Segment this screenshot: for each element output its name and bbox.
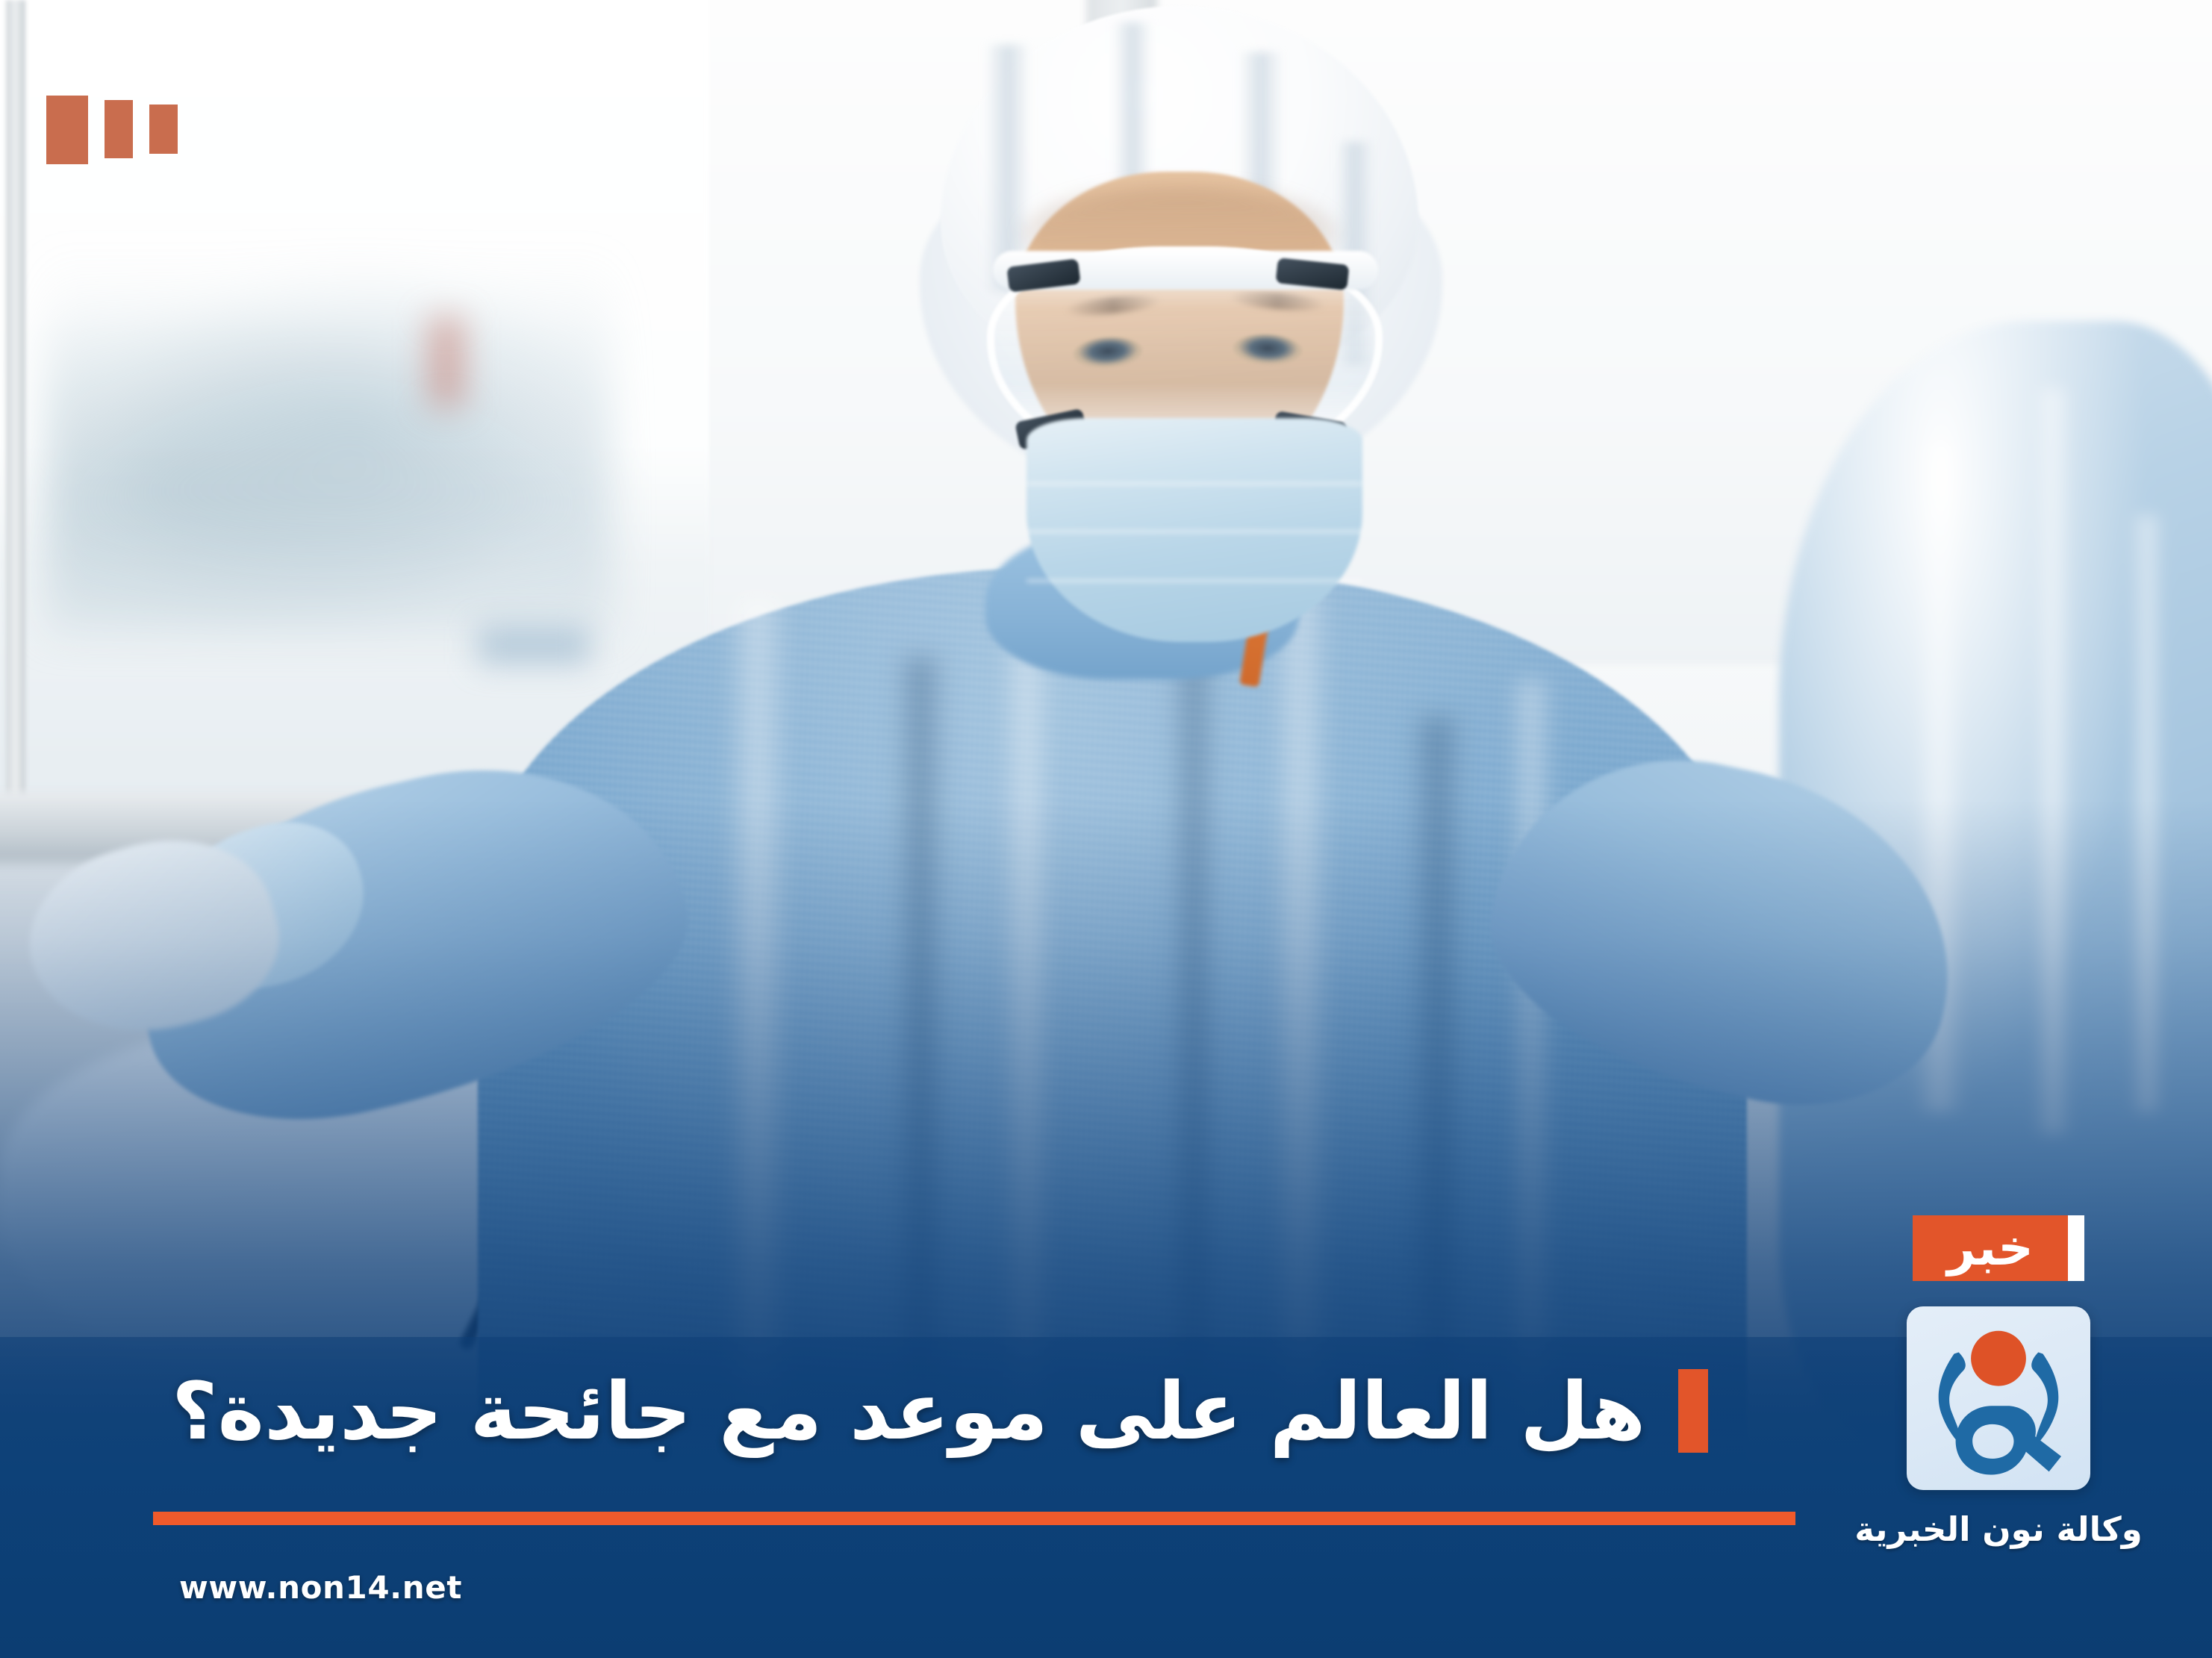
news-card: خبر وكالة نون الخبرية هل العالم على موعد… [0, 0, 2212, 1658]
brand-name: وكالة نون الخبرية [1854, 1509, 2142, 1549]
site-url[interactable]: www.non14.net [179, 1569, 462, 1606]
noon-agency-figure-icon [1907, 1306, 2090, 1490]
window-frame-vertical [6, 0, 25, 881]
category-badge-tick [2068, 1215, 2084, 1281]
brand-block: خبر وكالة نون الخبرية [1849, 1215, 2148, 1549]
divider-rule [153, 1512, 1795, 1525]
headline-row: هل العالم على موعد مع جائحة جديدة؟ [172, 1365, 1816, 1458]
headline-text: هل العالم على موعد مع جائحة جديدة؟ [172, 1365, 1645, 1458]
brand-logo-tile[interactable] [1907, 1306, 2090, 1490]
headline-accent-bar [1678, 1369, 1708, 1453]
category-badge-label: خبر [1913, 1215, 2068, 1281]
watermark-bars-icon [46, 96, 178, 164]
category-badge[interactable]: خبر [1913, 1215, 2084, 1281]
